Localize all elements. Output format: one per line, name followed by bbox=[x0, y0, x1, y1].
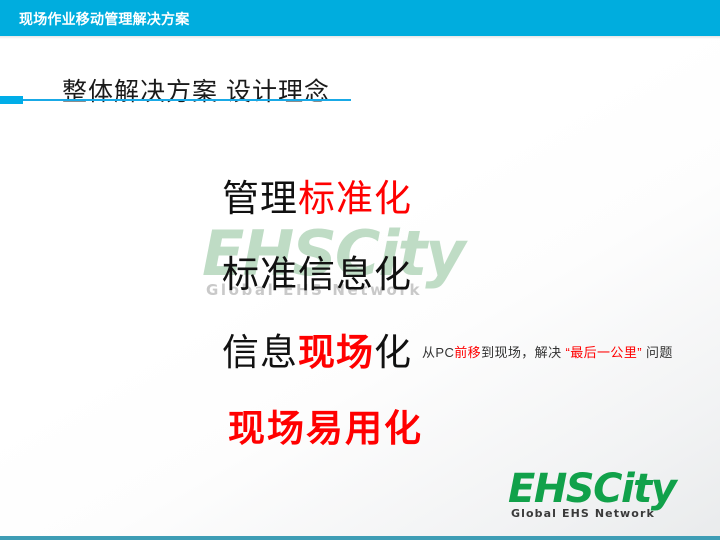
note-part-1: 从PC bbox=[422, 345, 454, 360]
note-part-2: 到现场，解决 bbox=[481, 345, 565, 360]
brand-logo-wordmark: EHSCity bbox=[508, 470, 694, 508]
footer-rule bbox=[0, 536, 720, 540]
page-title: 整体解决方案 设计理念 bbox=[62, 72, 330, 108]
slide-canvas: 现场作业移动管理解决方案 整体解决方案 设计理念 EHSCity Global … bbox=[0, 0, 720, 540]
header-title: 现场作业移动管理解决方案 bbox=[19, 9, 189, 29]
header-drop-shadow bbox=[0, 36, 720, 39]
body-line-2-text: 标准信息化 bbox=[222, 254, 412, 295]
title-rule-line bbox=[23, 99, 351, 101]
header-band: 现场作业移动管理解决方案 bbox=[0, 0, 720, 36]
note-part-3: 问题 bbox=[642, 345, 673, 360]
body-line-3-suffix: 化 bbox=[374, 332, 412, 373]
body-line-3-note: 从PC前移到现场，解决 “最后一公里” 问题 bbox=[422, 342, 673, 361]
note-accent-2: “最后一公里” bbox=[566, 345, 642, 360]
body-line-4: 现场易用化 bbox=[228, 398, 423, 452]
body-line-1: 管理标准化 bbox=[222, 168, 412, 222]
title-rule-accent bbox=[0, 96, 23, 104]
body-line-1-prefix: 管理 bbox=[222, 178, 298, 219]
body-line-3-accent: 现场 bbox=[298, 332, 374, 373]
body-line-4-text: 现场易用化 bbox=[228, 408, 423, 449]
body-line-3-prefix: 信息 bbox=[222, 332, 298, 373]
brand-logo: EHSCity Global EHS Network bbox=[508, 470, 694, 520]
body-line-1-accent: 标准化 bbox=[298, 178, 412, 219]
note-accent-1: 前移 bbox=[454, 345, 481, 360]
body-line-3: 信息现场化 bbox=[222, 322, 412, 376]
body-line-2: 标准信息化 bbox=[222, 244, 412, 298]
